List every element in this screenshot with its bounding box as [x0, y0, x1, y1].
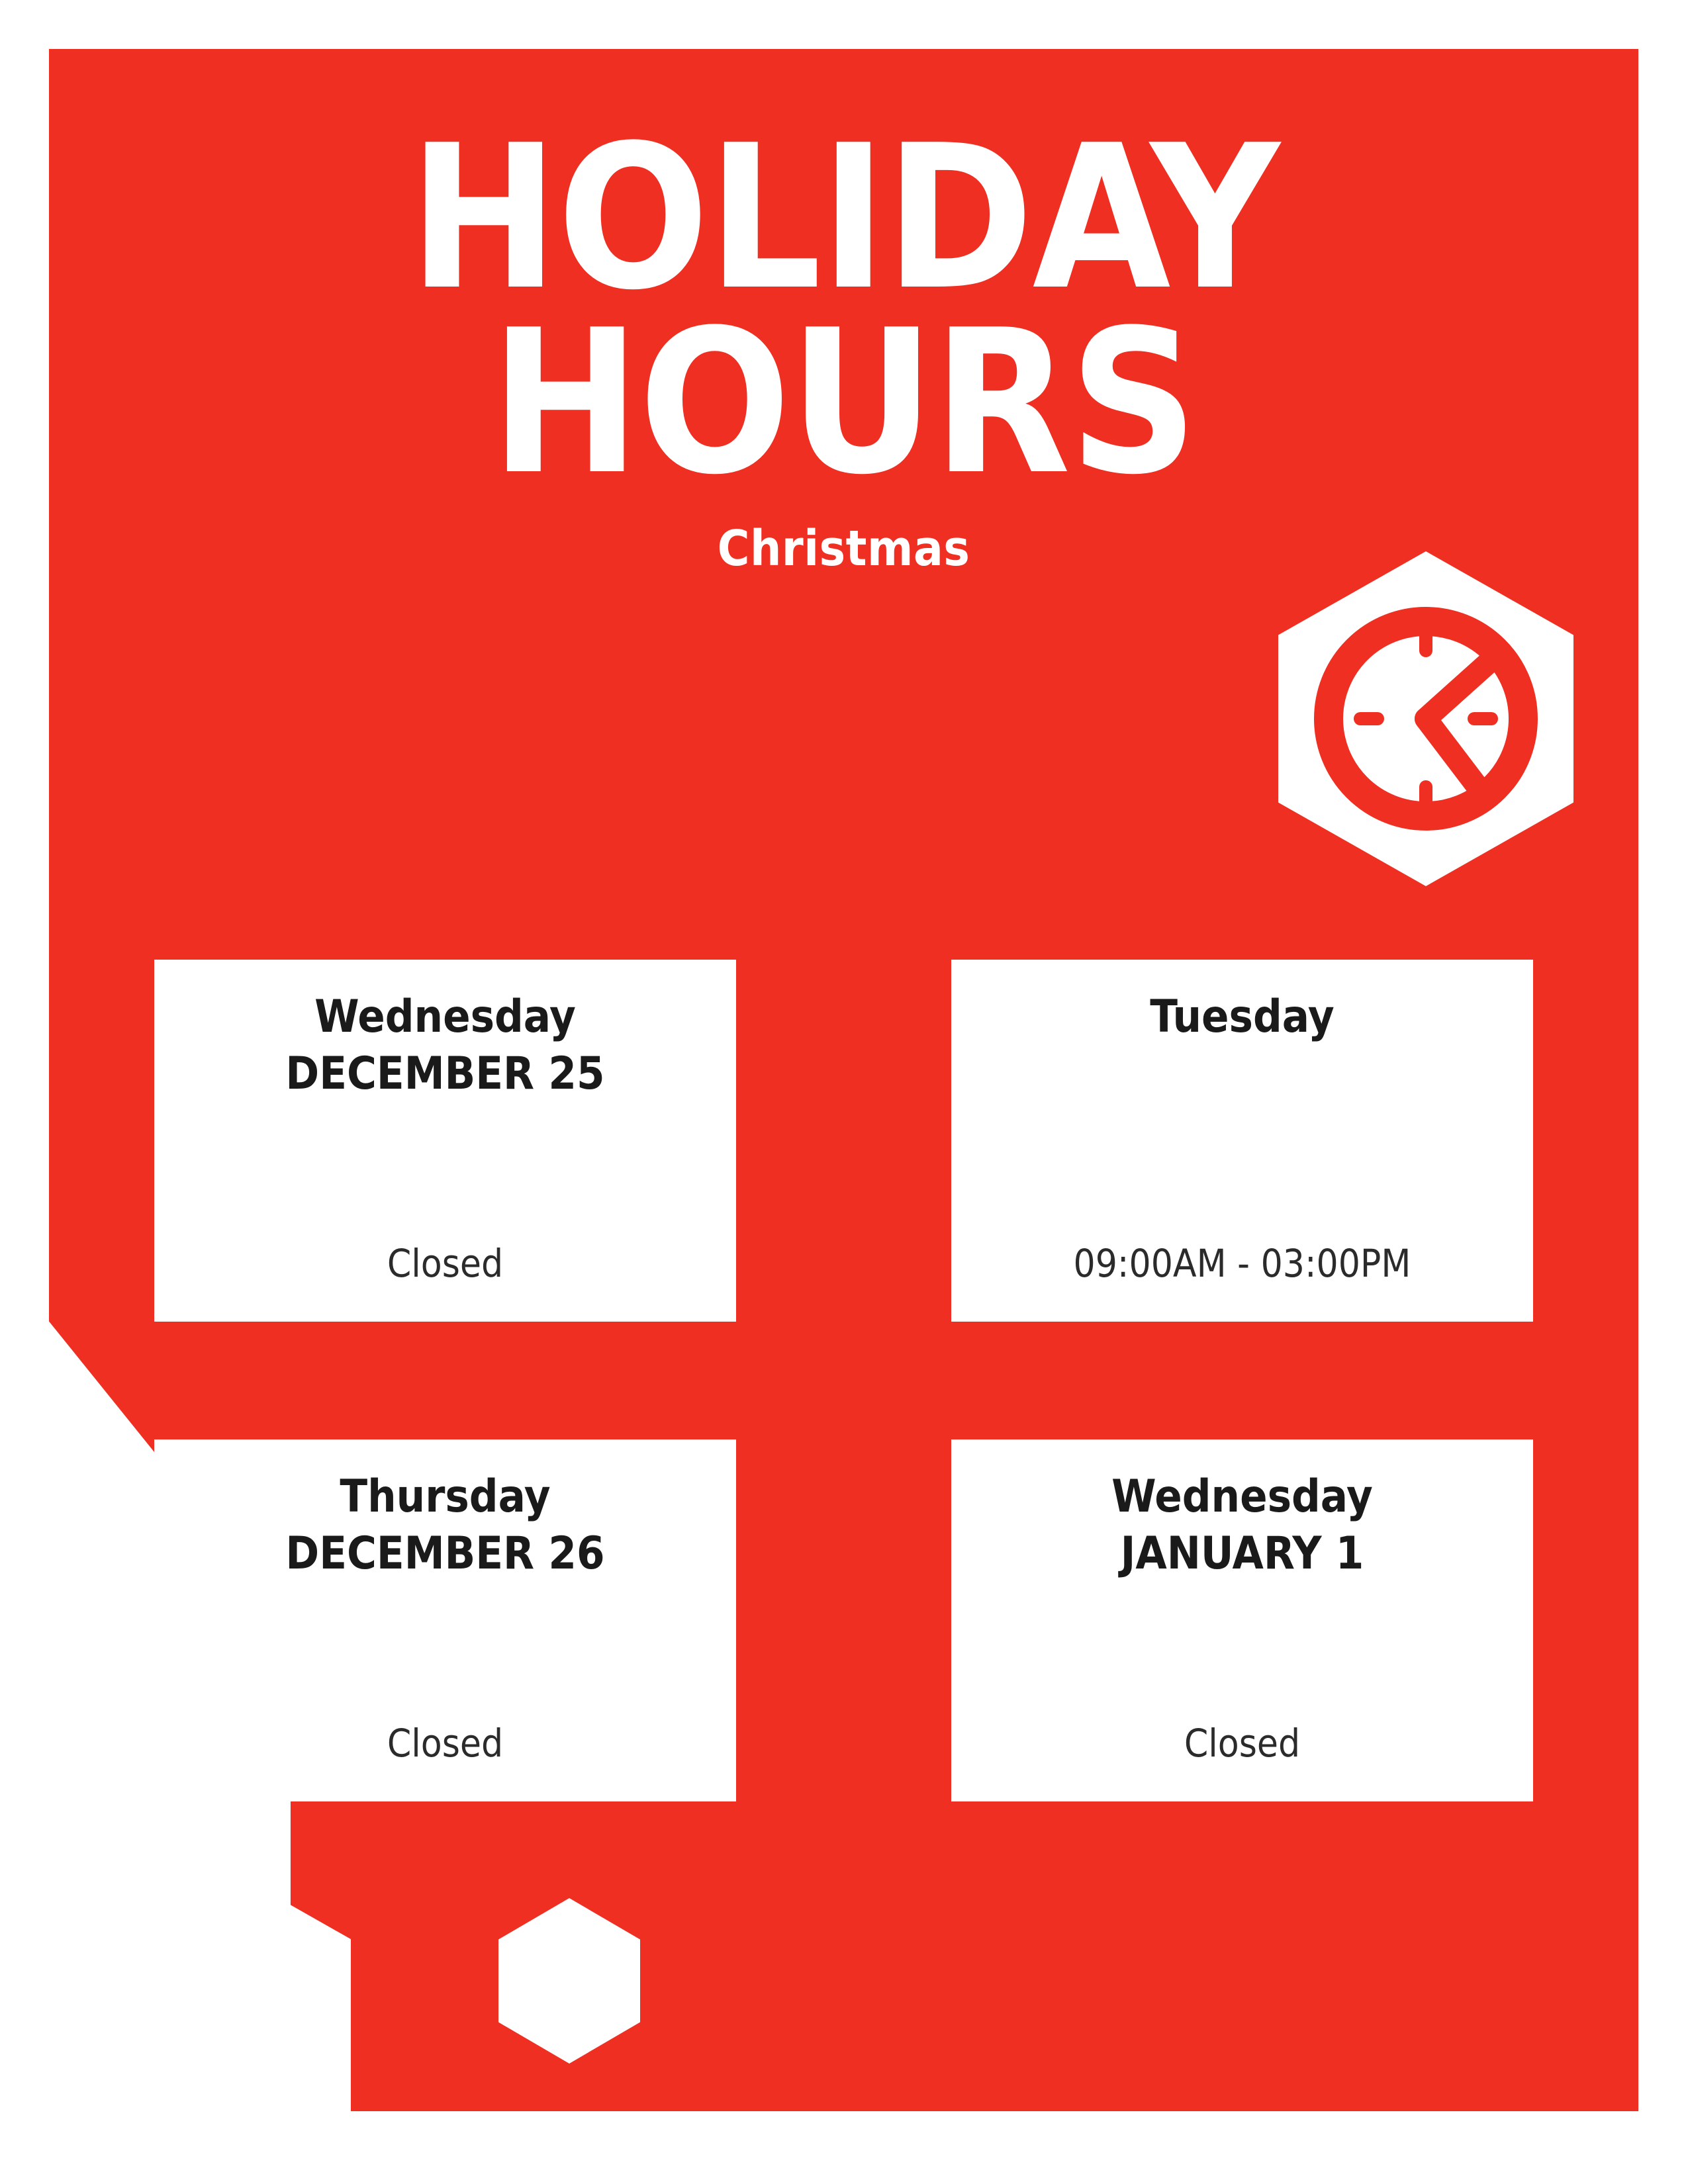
clock-hexagon-icon	[1278, 551, 1573, 886]
day-card: Wednesday DECEMBER 25 Closed	[154, 960, 736, 1322]
holiday-cards-grid: Wednesday DECEMBER 25 Closed Tuesday 09:…	[154, 960, 1533, 1801]
day-card: Tuesday 09:00AM - 03:00PM	[951, 960, 1533, 1322]
day-card: Wednesday JANUARY 1 Closed	[951, 1439, 1533, 1801]
page-title: HOLIDAY HOURS	[49, 126, 1638, 495]
card-hours-label: Closed	[387, 1721, 503, 1766]
card-day-label: Wednesday	[1111, 1471, 1373, 1523]
card-hours-label: Closed	[1184, 1721, 1300, 1766]
card-day-label: Thursday	[340, 1471, 550, 1523]
poster-header: HOLIDAY HOURS Christmas	[49, 126, 1638, 577]
card-day-label: Wednesday	[314, 991, 576, 1043]
card-date-label: JANUARY 1	[1121, 1528, 1364, 1580]
card-day-label: Tuesday	[1150, 991, 1335, 1043]
holiday-hours-poster: HOLIDAY HOURS Christmas Wednesday DECEMB…	[0, 0, 1688, 2184]
card-date-label: DECEMBER 25	[285, 1048, 604, 1100]
card-date-label: DECEMBER 26	[285, 1528, 604, 1580]
day-card: Thursday DECEMBER 26 Closed	[154, 1439, 736, 1801]
card-hours-label: Closed	[387, 1241, 503, 1286]
card-hours-label: 09:00AM - 03:00PM	[1074, 1241, 1411, 1286]
